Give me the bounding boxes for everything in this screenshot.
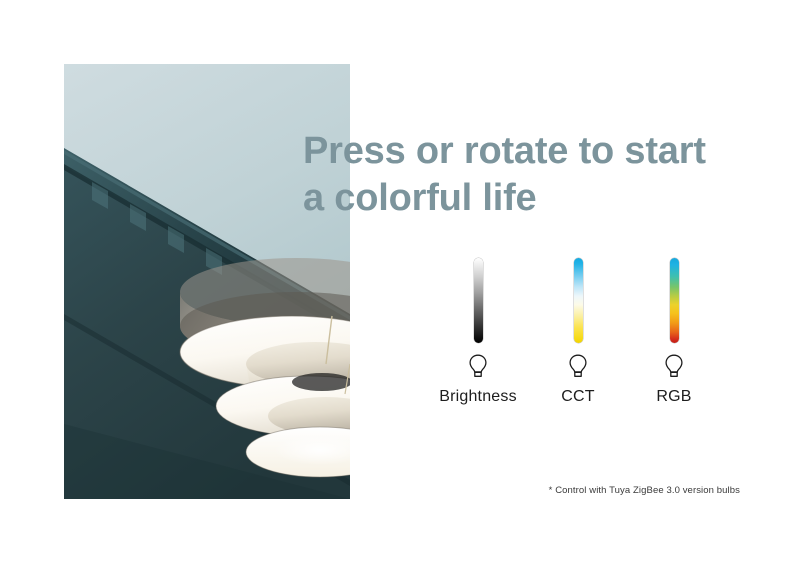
cct-slider-track[interactable] <box>574 258 583 343</box>
lightbulb-icon <box>467 353 489 379</box>
control-group: Brightness CCT RGB <box>420 252 740 412</box>
brightness-slider-track[interactable] <box>474 258 483 343</box>
lightbulb-icon <box>567 353 589 379</box>
footnote: * Control with Tuya ZigBee 3.0 version b… <box>400 485 740 496</box>
control-rgb[interactable]: RGB <box>614 252 734 406</box>
rgb-slider-track[interactable] <box>670 258 679 343</box>
lightbulb-icon <box>663 353 685 379</box>
control-label-rgb: RGB <box>614 388 734 406</box>
page-title: Press or rotate to start a colorful life <box>303 128 773 222</box>
slide-canvas: Press or rotate to start a colorful life… <box>0 0 800 565</box>
